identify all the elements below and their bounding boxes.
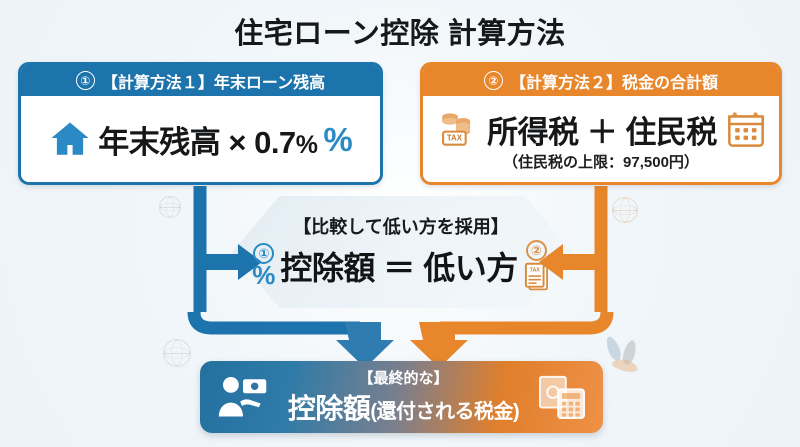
comparison-equation-row: ① % 控除額 ＝ 低い方 ② TAX xyxy=(252,240,549,292)
person-receiving-money-icon xyxy=(216,373,270,421)
method-2-card[interactable]: ② 【計算方法２】税金の合計額 TAX xyxy=(420,62,782,185)
comparison-right-badge: ② TAX xyxy=(523,240,550,292)
formula-rate: 0.7 xyxy=(254,125,296,160)
method-2-number-badge: ② xyxy=(484,71,503,90)
method-2-header-label: 【計算方法２】税金の合計額 xyxy=(510,69,718,93)
formula-rate-unit: % xyxy=(296,131,318,159)
formula-operator: ＋ xyxy=(587,115,618,150)
tax-document-icon: TAX xyxy=(523,261,550,292)
method-1-header-label: 【計算方法１】年末ローン残高 xyxy=(102,69,325,93)
method-1-body: 年末残高 × 0.7% % xyxy=(21,96,380,182)
formula-term-a: 所得税 xyxy=(487,115,579,150)
comparison-left-badge: ① % xyxy=(252,243,275,288)
comparison-equation: 控除額 ＝ 低い方 xyxy=(280,243,517,289)
method-1-card[interactable]: ① 【計算方法１】年末ローン残高 年末残高 × 0.7% % xyxy=(18,62,383,185)
method-1-formula: 年末残高 × 0.7% xyxy=(98,117,317,162)
calendar-icon xyxy=(726,109,766,149)
final-paren-label: (還付される税金) xyxy=(370,401,519,423)
blue-wire-bottom-bend xyxy=(194,312,360,328)
house-icon xyxy=(48,118,92,160)
final-text-stack: 【最終的な】 控除額(還付される税金) xyxy=(270,367,537,427)
final-main-row: 控除額(還付される税金) xyxy=(288,387,519,427)
comparison-caption: 【比較して低い方を採用】 xyxy=(293,213,508,239)
tax-coins-icon: TAX xyxy=(436,109,478,149)
formula-term-b: 住民税 xyxy=(625,115,717,150)
final-top-label: 【最終的な】 xyxy=(358,367,448,388)
formula-operator: × xyxy=(228,125,246,160)
method-2-body: TAX 所得税 ＋ 住民税 xyxy=(423,96,779,182)
method-2-note: （住民税の上限：97,500円） xyxy=(503,151,699,172)
formula-term: 年末残高 xyxy=(98,125,220,160)
method-1-header: ① 【計算方法１】年末ローン残高 xyxy=(21,65,380,96)
svg-text:TAX: TAX xyxy=(447,134,463,143)
final-result-bar[interactable]: 【最終的な】 控除額(還付される税金) xyxy=(200,361,603,433)
method-2-formula: 所得税 ＋ 住民税 xyxy=(487,107,717,152)
money-calculator-icon xyxy=(537,374,587,420)
infographic-canvas: 住宅ローン控除 計算方法 ① 【計算方法１】年末ローン残高 xyxy=(0,0,800,447)
percent-icon: % xyxy=(323,123,352,156)
final-main-label: 控除額 xyxy=(288,393,371,424)
svg-text:TAX: TAX xyxy=(529,267,540,273)
method-2-header: ② 【計算方法２】税金の合計額 xyxy=(423,65,779,96)
orange-wire-bottom-bend xyxy=(440,312,607,328)
comparison-right-number: ② xyxy=(526,240,547,261)
comparison-block: 【比較して低い方を採用】 ① % 控除額 ＝ 低い方 ② TAX xyxy=(206,204,596,300)
method-1-number-badge: ① xyxy=(76,71,95,90)
percent-icon: % xyxy=(252,262,275,288)
